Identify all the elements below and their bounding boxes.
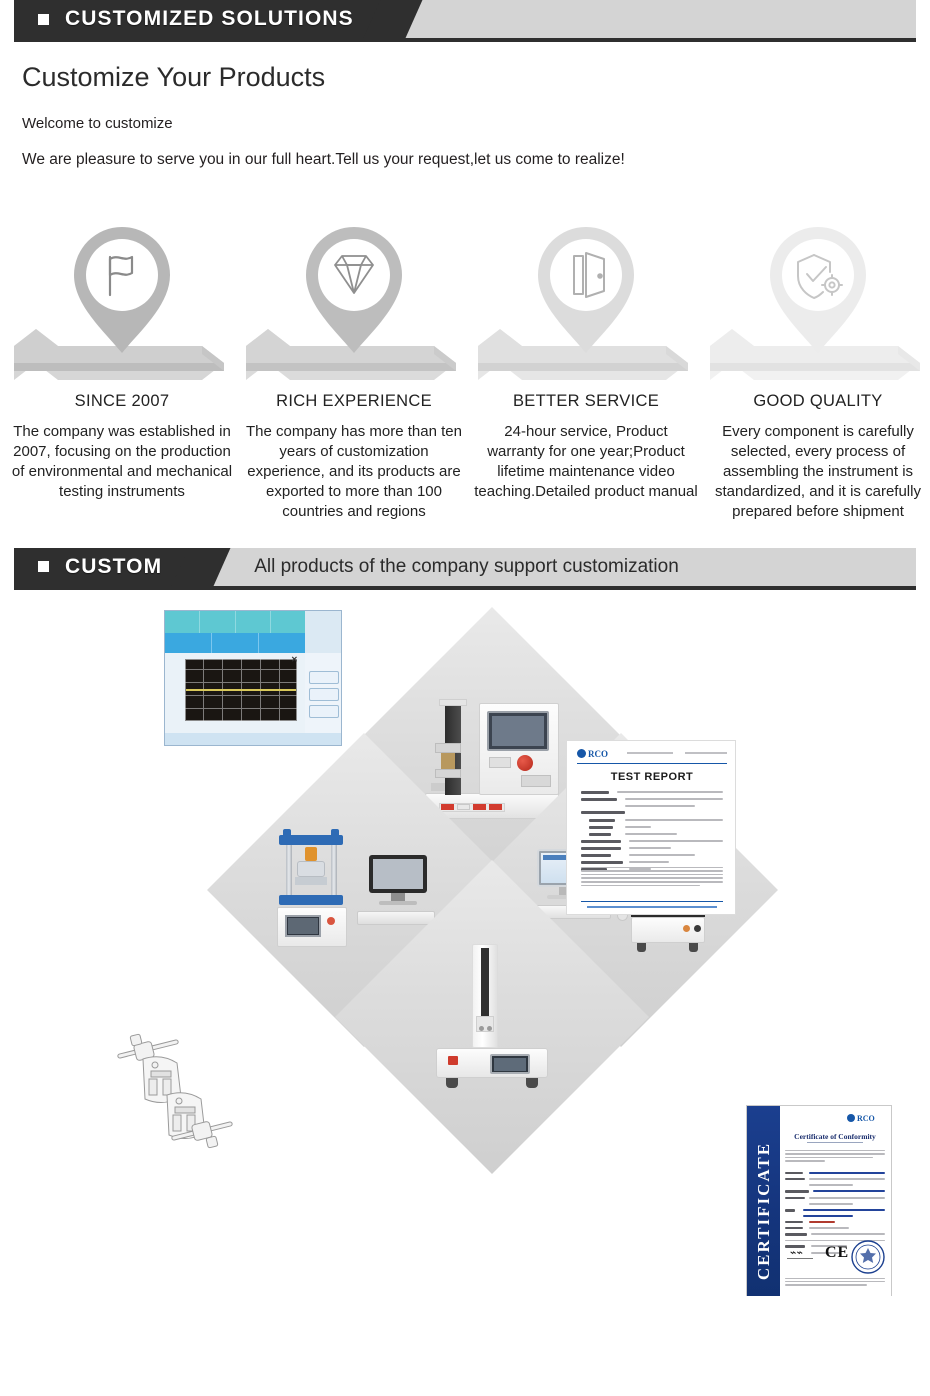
feature-card-rich-experience: RICH EXPERIENCE The company has more tha… bbox=[238, 191, 470, 522]
custom-tab: CUSTOM bbox=[14, 548, 202, 586]
set-up-button[interactable] bbox=[309, 705, 339, 718]
rco-logo-text: RCO bbox=[857, 1114, 875, 1123]
certificate-title: Certificate of Conformity bbox=[783, 1132, 887, 1141]
customized-solutions-banner: CUSTOMIZED SOLUTIONS bbox=[14, 0, 916, 42]
test-report-document[interactable]: RCO TEST REPORT bbox=[566, 740, 736, 915]
feature-desc-better-service: 24-hour service, Product warranty for on… bbox=[470, 422, 702, 502]
page-title: Customize Your Products bbox=[22, 62, 930, 93]
feature-icon-rich-experience bbox=[238, 191, 470, 386]
feature-card-since-2007: SINCE 2007 The company was established i… bbox=[6, 191, 238, 522]
feature-card-list: SINCE 2007 The company was established i… bbox=[0, 191, 930, 522]
check-button[interactable] bbox=[309, 688, 339, 701]
feature-title-rich-experience: RICH EXPERIENCE bbox=[276, 392, 432, 411]
feature-icon-good-quality bbox=[702, 191, 930, 386]
feature-title-since-2007: SINCE 2007 bbox=[75, 392, 170, 411]
diamond-pin-graphic bbox=[238, 191, 470, 386]
feature-desc-rich-experience: The company has more than ten years of c… bbox=[238, 422, 470, 522]
flag-pin-graphic bbox=[6, 191, 238, 386]
customized-solutions-tab: CUSTOMIZED SOLUTIONS bbox=[14, 0, 394, 38]
custom-banner-subtitle: All products of the company support cust… bbox=[202, 548, 679, 586]
feature-icon-since-2007 bbox=[6, 191, 238, 386]
certification-stamp-icon bbox=[851, 1240, 885, 1274]
certificate-side-label: CERTIFICATE bbox=[747, 1106, 780, 1296]
product-gallery: ✕ RCO TEST REPORT bbox=[0, 596, 930, 1296]
customized-solutions-tab-label: CUSTOMIZED SOLUTIONS bbox=[65, 7, 354, 31]
feature-desc-since-2007: The company was established in 2007, foc… bbox=[6, 422, 238, 502]
square-bullet-icon bbox=[38, 14, 49, 25]
machine-body bbox=[432, 942, 552, 1092]
test-report-title: TEST REPORT bbox=[567, 771, 736, 783]
reset-times-button[interactable] bbox=[309, 671, 339, 684]
feature-icon-better-service bbox=[470, 191, 702, 386]
rco-logo: RCO bbox=[847, 1114, 875, 1123]
custom-banner: CUSTOM All products of the company suppo… bbox=[14, 548, 916, 590]
feature-title-good-quality: GOOD QUALITY bbox=[753, 392, 882, 411]
feature-desc-good-quality: Every component is carefully selected, e… bbox=[702, 422, 930, 522]
feature-title-better-service: BETTER SERVICE bbox=[513, 392, 659, 411]
intro-description-text: We are pleasure to serve you in our full… bbox=[22, 151, 930, 169]
tensile-grip-fixture-drawing bbox=[105, 1021, 245, 1161]
fixture-graphic bbox=[105, 1021, 245, 1161]
intro-welcome-text: Welcome to customize bbox=[22, 115, 930, 132]
feature-card-better-service: BETTER SERVICE 24-hour service, Product … bbox=[470, 191, 702, 522]
door-pin-graphic bbox=[470, 191, 702, 386]
feature-card-good-quality: GOOD QUALITY Every component is carefull… bbox=[702, 191, 930, 522]
single-column-tensile-tester-photo bbox=[381, 906, 603, 1128]
rco-logo-text: RCO bbox=[588, 749, 608, 759]
tension-test-software-screenshot[interactable]: ✕ bbox=[164, 610, 342, 746]
rco-logo: RCO bbox=[577, 749, 608, 759]
intro-block: Customize Your Products Welcome to custo… bbox=[0, 42, 930, 169]
custom-tab-label: CUSTOM bbox=[65, 555, 162, 579]
ce-mark: CE bbox=[825, 1244, 849, 1262]
certificate-of-conformity[interactable]: CERTIFICATE RCO Certificate of Conformit… bbox=[746, 1105, 892, 1296]
shield-check-gear-pin-graphic bbox=[702, 191, 930, 386]
square-bullet-icon bbox=[38, 561, 49, 572]
